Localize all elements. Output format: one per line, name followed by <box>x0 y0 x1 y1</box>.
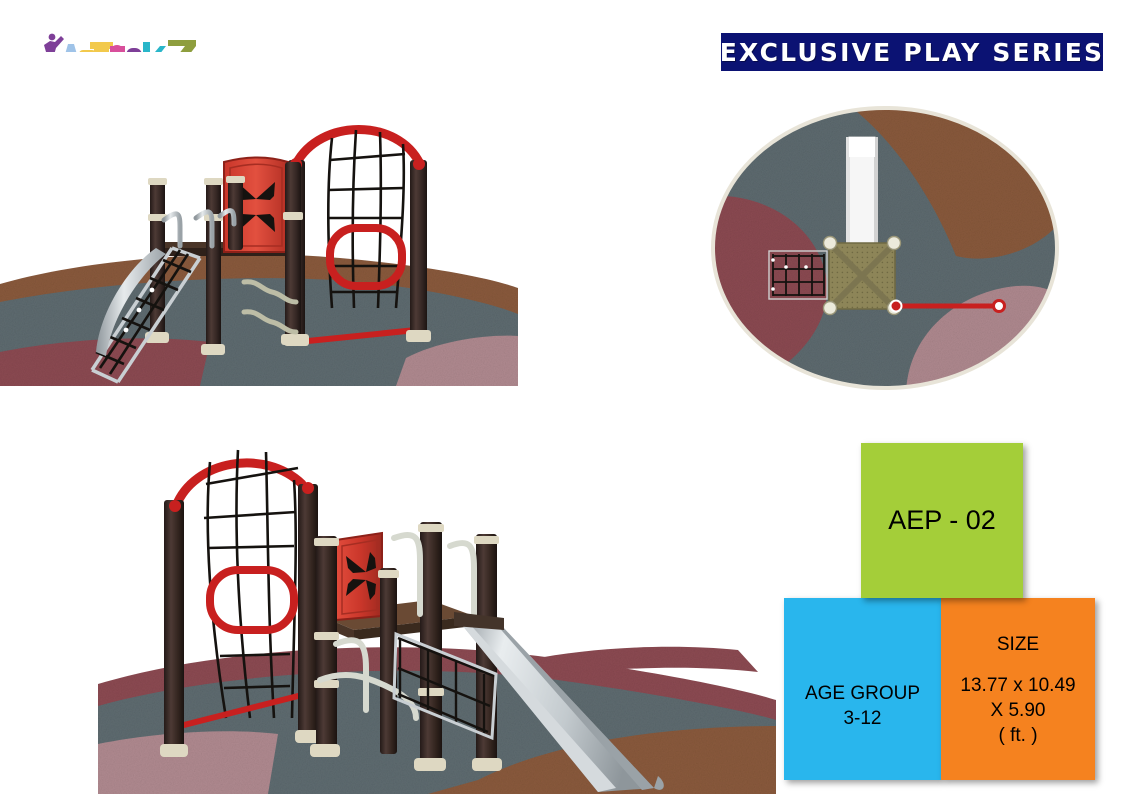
red-climb-panel <box>336 533 382 620</box>
model-code-card: AEP - 02 <box>861 443 1023 598</box>
plan-deck <box>829 243 895 309</box>
plan-view-render <box>706 96 1064 396</box>
surfacing-zones <box>0 254 518 386</box>
plan-slide <box>846 137 878 246</box>
size-dimensions-line1: 13.77 x 10.49 <box>960 673 1075 698</box>
age-group-card: AGE GROUP 3-12 <box>784 598 941 780</box>
front-elevation-render <box>0 52 518 386</box>
header-banner: EXCLUSIVE PLAY SERIES <box>721 33 1103 71</box>
size-unit: ( ft. ) <box>960 723 1075 748</box>
isometric-render <box>98 388 776 794</box>
page-root: INC. WE TAKE PLAY SERIOUSLY EXCLUSIVE PL… <box>0 0 1134 794</box>
age-group-value: 3-12 <box>805 706 920 731</box>
header-banner-title: EXCLUSIVE PLAY SERIES <box>720 38 1105 67</box>
size-dimensions-line2: X 5.90 <box>960 698 1075 723</box>
model-code-label: AEP - 02 <box>888 505 996 536</box>
age-group-title: AGE GROUP <box>805 681 920 706</box>
size-title: SIZE <box>960 632 1075 657</box>
size-card: SIZE 13.77 x 10.49 X 5.90 ( ft. ) <box>941 598 1095 780</box>
